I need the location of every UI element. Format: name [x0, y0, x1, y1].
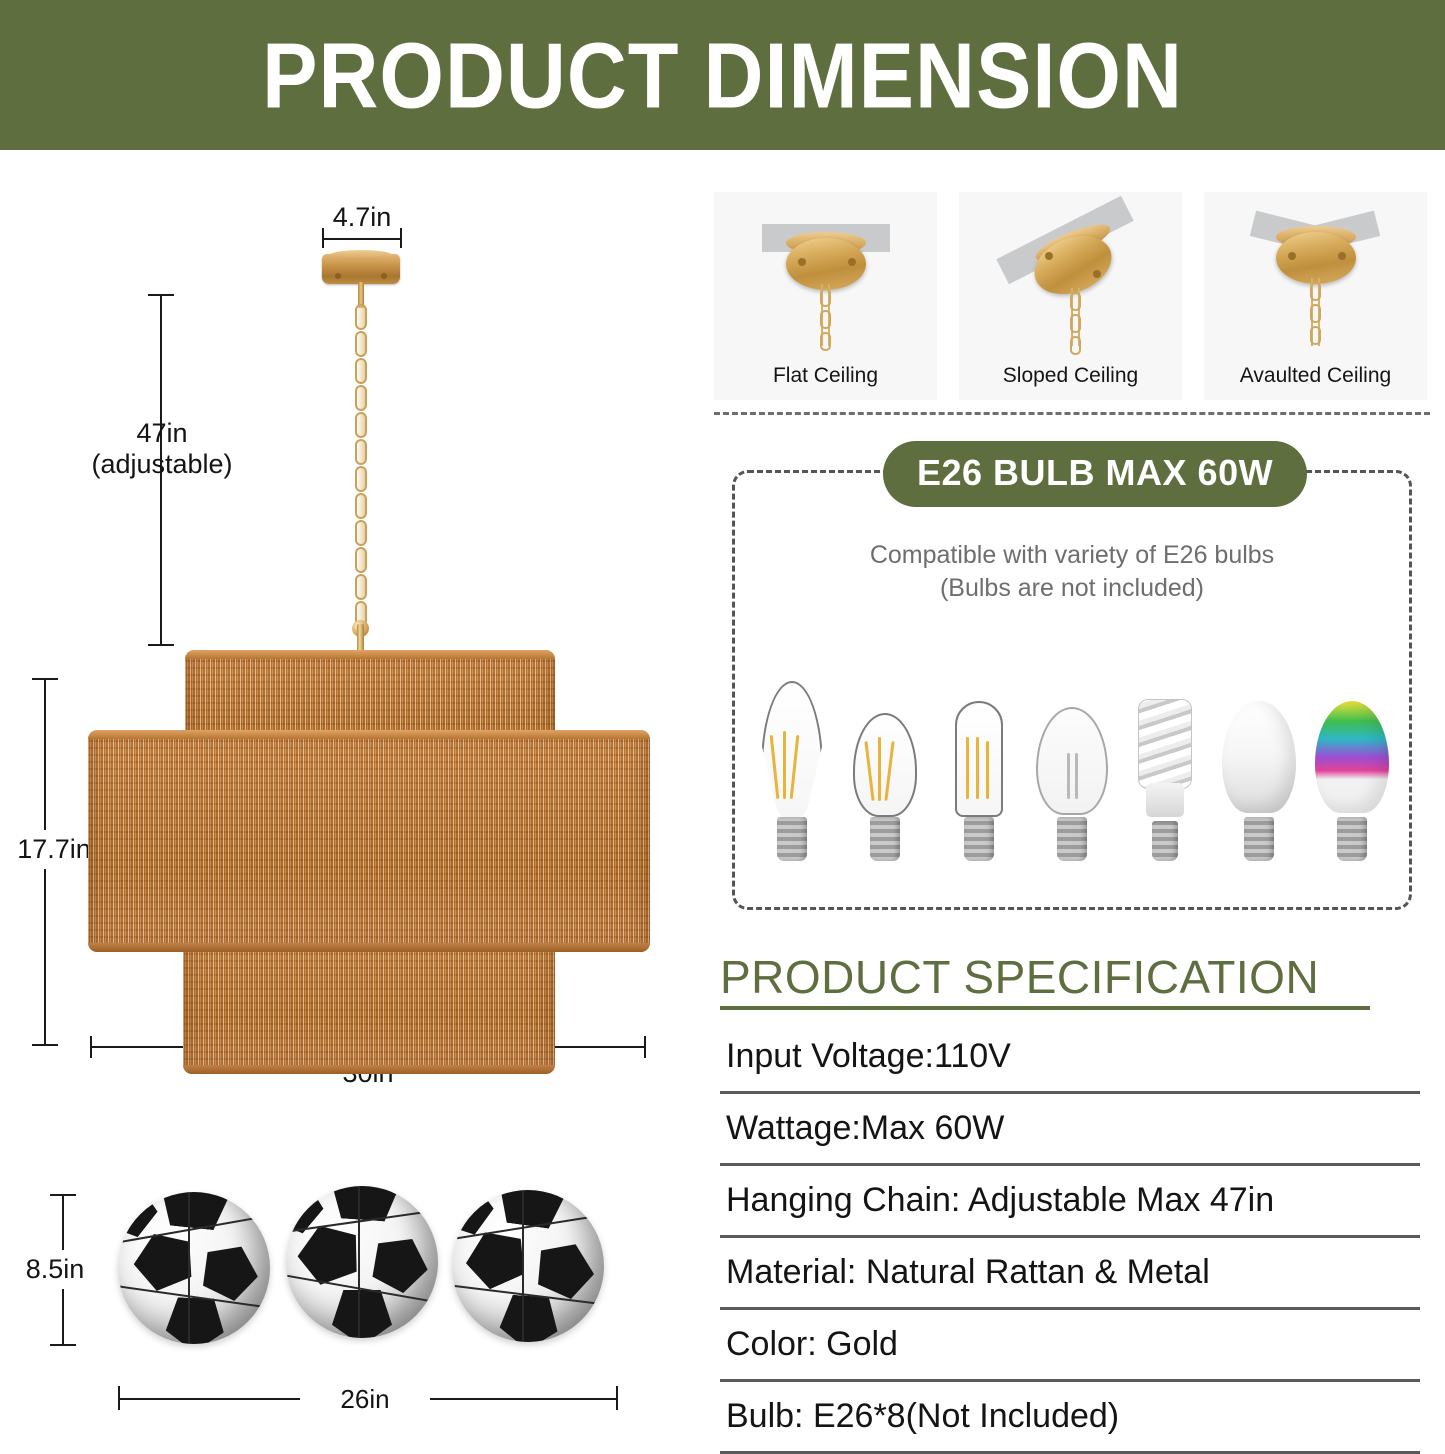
- ceiling-type-list: Flat Ceiling Sloped Ceiling: [714, 192, 1429, 400]
- chain-length-value: 47in: [62, 418, 262, 449]
- spec-row: Material: Natural Rattan & Metal: [720, 1238, 1420, 1310]
- ball-row-tick-right: [616, 1386, 618, 1410]
- incandescent-bulb-icon: [1029, 661, 1115, 861]
- shade-width-tick-right: [644, 1036, 646, 1058]
- spec-row: Wattage:Max 60W: [720, 1094, 1420, 1166]
- ceiling-card-avaulted[interactable]: Avaulted Ceiling: [1204, 192, 1427, 400]
- spec-row: Input Voltage:110V: [720, 1022, 1420, 1094]
- spec-row: Bulb: E26*8(Not Included): [720, 1382, 1420, 1454]
- ceiling-canopy: [322, 254, 400, 284]
- soccer-ball: [118, 1192, 270, 1344]
- sloped-ceiling-mount-illustration: [959, 192, 1182, 352]
- canopy-dim-line: [322, 238, 402, 240]
- chain-length-label: 47in (adjustable): [62, 418, 262, 480]
- avaulted-ceiling-mount-illustration: [1204, 192, 1427, 352]
- cfl-spiral-bulb-icon: [1122, 661, 1208, 861]
- chain-dim-tick-bottom: [148, 644, 174, 646]
- ball-row-tick-left: [118, 1386, 120, 1410]
- page-title: PRODUCT DIMENSION: [262, 29, 1183, 122]
- rgb-smart-bulb-icon: [1309, 661, 1395, 861]
- spec-section-title: PRODUCT SPECIFICATION: [720, 950, 1319, 1004]
- chain-dim-tick-top: [148, 294, 174, 296]
- t45-tube-filament-bulb-icon: [936, 661, 1022, 861]
- spec-row: Hanging Chain: Adjustable Max 47in: [720, 1166, 1420, 1238]
- shade-width-tick-left: [90, 1036, 92, 1058]
- e26-subtitle-line-2: (Bulbs are not included): [735, 572, 1409, 605]
- section-divider: [714, 412, 1430, 415]
- e26-bulb-compatibility-box: E26 BULB MAX 60W Compatible with variety…: [732, 470, 1412, 910]
- ceiling-card-label: Avaulted Ceiling: [1240, 364, 1391, 388]
- st64-edison-filament-bulb-icon: [749, 661, 835, 861]
- page-header-banner: PRODUCT DIMENSION: [0, 0, 1445, 150]
- canopy-dim-tick-left: [322, 228, 324, 248]
- ball-height-tick-bottom: [50, 1344, 76, 1346]
- hanging-chain: [355, 304, 367, 626]
- ceiling-card-flat[interactable]: Flat Ceiling: [714, 192, 937, 400]
- shade-height-tick-bottom: [32, 1044, 58, 1046]
- shade-height-tick-top: [32, 678, 58, 680]
- ceiling-card-label: Flat Ceiling: [773, 364, 878, 388]
- ball-row-width-label: 26in: [300, 1382, 430, 1417]
- e26-bulb-badge: E26 BULB MAX 60W: [883, 441, 1307, 507]
- a19-filament-bulb-icon: [842, 661, 928, 861]
- led-bulb-icon: [1216, 661, 1302, 861]
- ceiling-card-sloped[interactable]: Sloped Ceiling: [959, 192, 1182, 400]
- rattan-shade-tier-middle: [88, 730, 650, 952]
- e26-bulb-subtitle: Compatible with variety of E26 bulbs (Bu…: [735, 539, 1409, 605]
- compatible-bulb-list: [749, 641, 1395, 861]
- spec-table: Input Voltage:110V Wattage:Max 60W Hangi…: [720, 1022, 1420, 1454]
- soccer-ball: [286, 1186, 438, 1338]
- flat-ceiling-mount-illustration: [714, 192, 937, 352]
- ball-height-tick-top: [50, 1194, 76, 1196]
- canopy-dim-tick-right: [400, 228, 402, 248]
- spec-row: Color: Gold: [720, 1310, 1420, 1382]
- product-dimension-diagram: 4.7in 47in (adjustable) 17.: [0, 150, 700, 1428]
- product-info-panel: Flat Ceiling Sloped Ceiling: [700, 150, 1445, 1428]
- chain-length-note: (adjustable): [62, 449, 262, 480]
- ball-height-label: 8.5in: [0, 1250, 110, 1289]
- spec-title-underline: [720, 1006, 1370, 1010]
- ceiling-card-label: Sloped Ceiling: [1003, 364, 1138, 388]
- e26-subtitle-line-1: Compatible with variety of E26 bulbs: [735, 539, 1409, 572]
- soccer-ball: [452, 1190, 604, 1342]
- canopy-width-label: 4.7in: [292, 202, 432, 233]
